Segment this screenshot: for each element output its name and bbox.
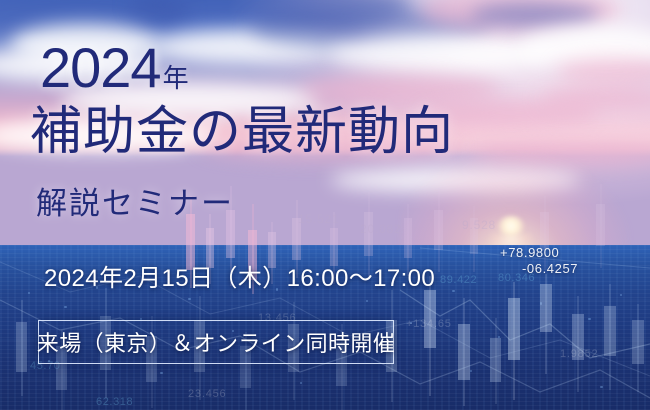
- ticker-faint-6: +134.65: [406, 318, 452, 330]
- seminar-banner: +78.9800 -06.4257 15.521 20.082 13.456 2…: [0, 0, 650, 410]
- year-heading: 2024 年: [40, 40, 189, 96]
- ticker-faint-7: 9.528: [462, 218, 496, 232]
- ticker-faint-10: 62.318: [96, 396, 133, 408]
- page-title: 補助金の最新動向: [30, 106, 454, 158]
- page-subtitle: 解説セミナー: [36, 188, 234, 219]
- venue-badge-label: 来場（東京）＆オンライン同時開催: [37, 326, 395, 358]
- ticker-faint-5: 89.422: [440, 274, 477, 286]
- ticker-primary: +78.9800: [500, 245, 559, 260]
- event-datetime: 2024年2月15日（木）16:00〜17:00: [44, 267, 435, 291]
- ticker-faint-9: 1.9852: [560, 348, 598, 360]
- venue-badge: 来場（東京）＆オンライン同時開催: [38, 320, 394, 364]
- ticker-faint-3: 23.456: [188, 388, 226, 400]
- ticker-faint-1: 20.082: [360, 222, 402, 236]
- year-suffix: 年: [163, 65, 189, 91]
- ticker-faint-0: 15.521: [298, 212, 340, 226]
- year-number: 2024: [40, 40, 161, 96]
- ticker-faint-4: 80.346: [498, 272, 535, 284]
